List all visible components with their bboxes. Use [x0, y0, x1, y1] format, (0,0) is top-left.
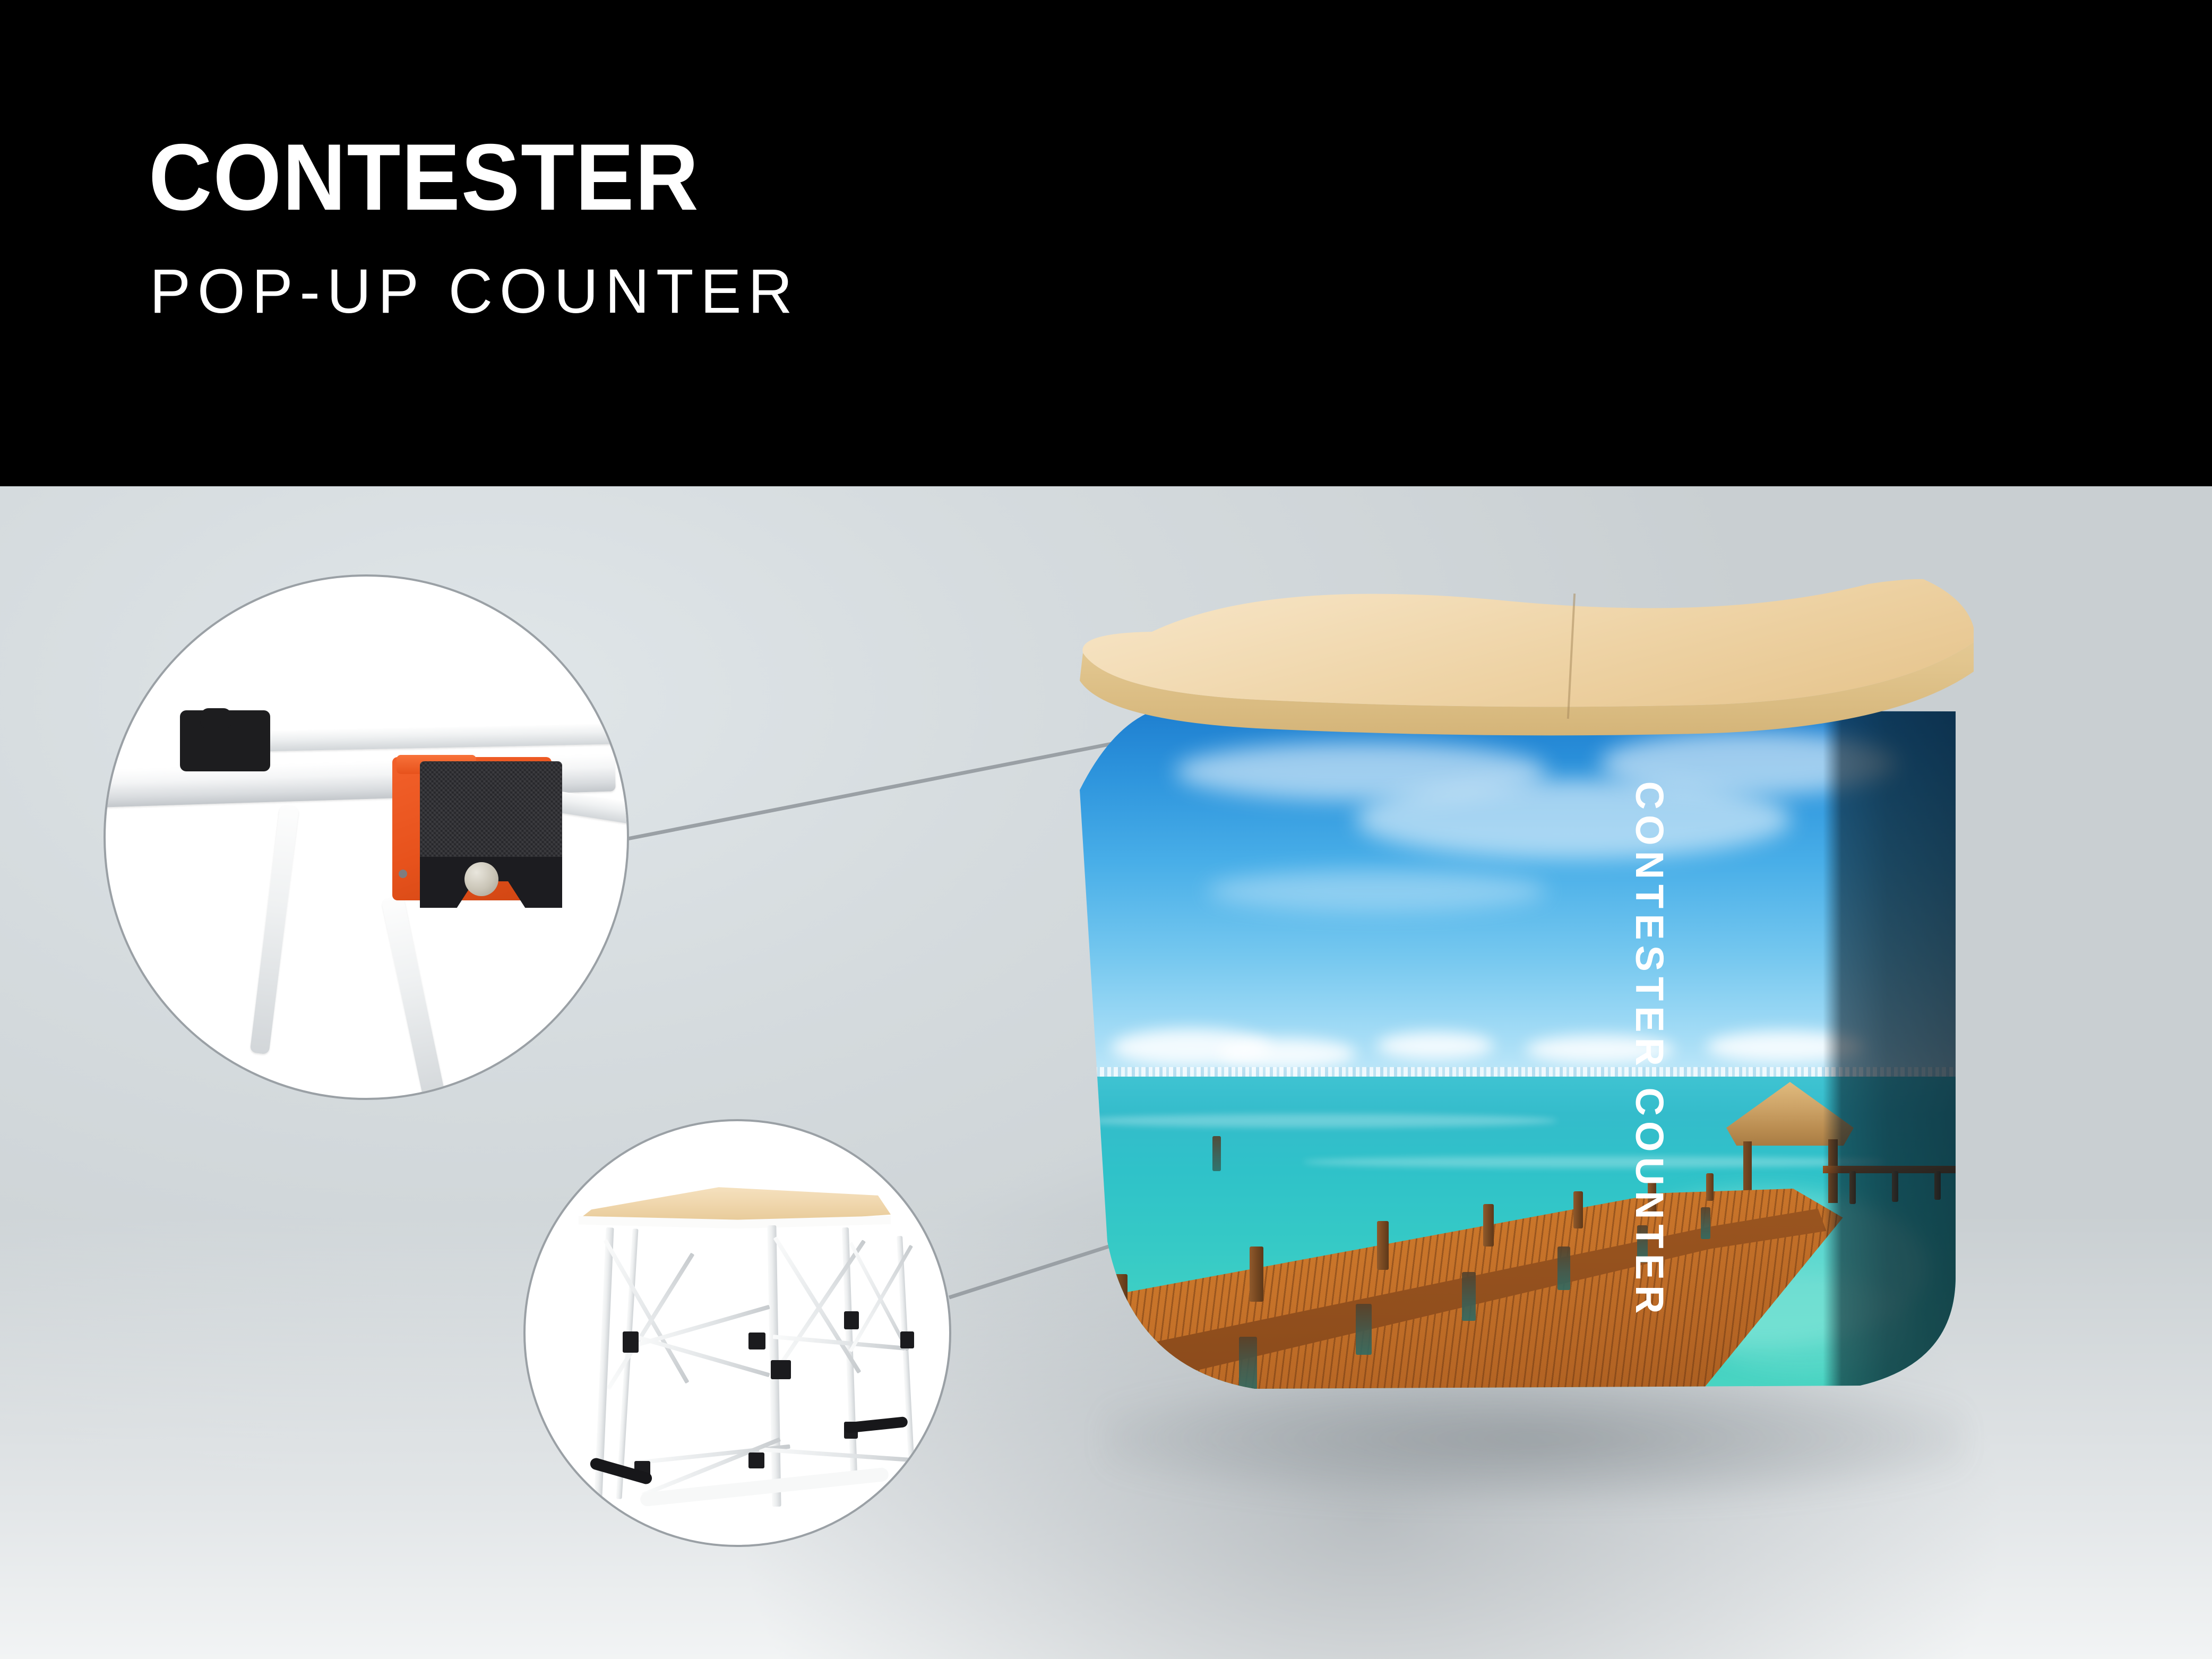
photo-deck-post-3: [1377, 1221, 1389, 1270]
photo-cloud-wisp-4: [1207, 870, 1547, 912]
photo-cloud-2: [1218, 1038, 1356, 1069]
frame-joint-2: [748, 1333, 765, 1349]
photo-sea-streak-2: [1303, 1156, 1887, 1168]
frame-joint-4: [844, 1311, 859, 1329]
photo-cloud-3: [1377, 1032, 1494, 1060]
frame-leg-right: [381, 895, 447, 1100]
page-subtitle: POP-UP COUNTER: [150, 260, 799, 323]
photo-water-piling-1: [1239, 1337, 1257, 1390]
counter-graphic-photo: CONTESTER COUNTER: [1080, 710, 1956, 1390]
clamp-screw: [399, 870, 407, 878]
frame-joint-5: [900, 1331, 914, 1348]
frame-rail-lower-right: [759, 1447, 918, 1463]
photo-water-piling-4: [1557, 1247, 1570, 1290]
frame-joint-3: [771, 1360, 791, 1379]
photo-deck-post-2: [1250, 1247, 1263, 1302]
clamp-velcro-pad: [420, 761, 562, 862]
page-title: CONTESTER: [149, 130, 700, 225]
detail-circle-frame: [523, 1119, 951, 1547]
counter-side-panel-text: CONTESTER COUNTER: [1627, 781, 1672, 1319]
counter-floor-shadow: [1104, 1375, 1964, 1502]
frame-base-rail: [640, 1467, 889, 1507]
frame-joint-1: [623, 1331, 639, 1353]
photo-deck-post-1: [1112, 1274, 1127, 1337]
counter-graphic-wrap: CONTESTER COUNTER: [1080, 710, 1956, 1390]
photo-deck-post-5: [1573, 1191, 1583, 1228]
frame-joint-8: [748, 1452, 764, 1468]
photo-deck-post-7: [1706, 1173, 1714, 1201]
photo-lone-piling: [1212, 1136, 1221, 1171]
photo-water-piling-3: [1462, 1272, 1476, 1321]
detail-circle-clamp: [104, 574, 629, 1100]
clamp-illustration: [106, 577, 627, 1098]
counter-worktop-surface: [1072, 563, 1975, 709]
product-counter: CONTESTER COUNTER: [1072, 563, 2091, 1513]
photo-sea-streak-1: [1080, 1114, 1557, 1128]
photo-deck-post-4: [1483, 1204, 1494, 1247]
counter-side-panel: CONTESTER COUNTER: [1823, 710, 1956, 1390]
frame-leg-left: [249, 805, 299, 1055]
frame-brace-1: [604, 1239, 690, 1383]
product-marketing-sheet: CONTESTER POP-UP COUNTER: [0, 0, 2212, 1659]
clamp-magnet: [464, 862, 498, 896]
header-band: CONTESTER POP-UP COUNTER: [0, 0, 2212, 486]
photo-water-piling-6: [1701, 1207, 1710, 1239]
frame-hub-knob: [200, 708, 232, 729]
photo-water-piling-2: [1356, 1304, 1372, 1355]
frame-illustration: [526, 1121, 949, 1545]
counter-worktop: [1072, 563, 1975, 738]
